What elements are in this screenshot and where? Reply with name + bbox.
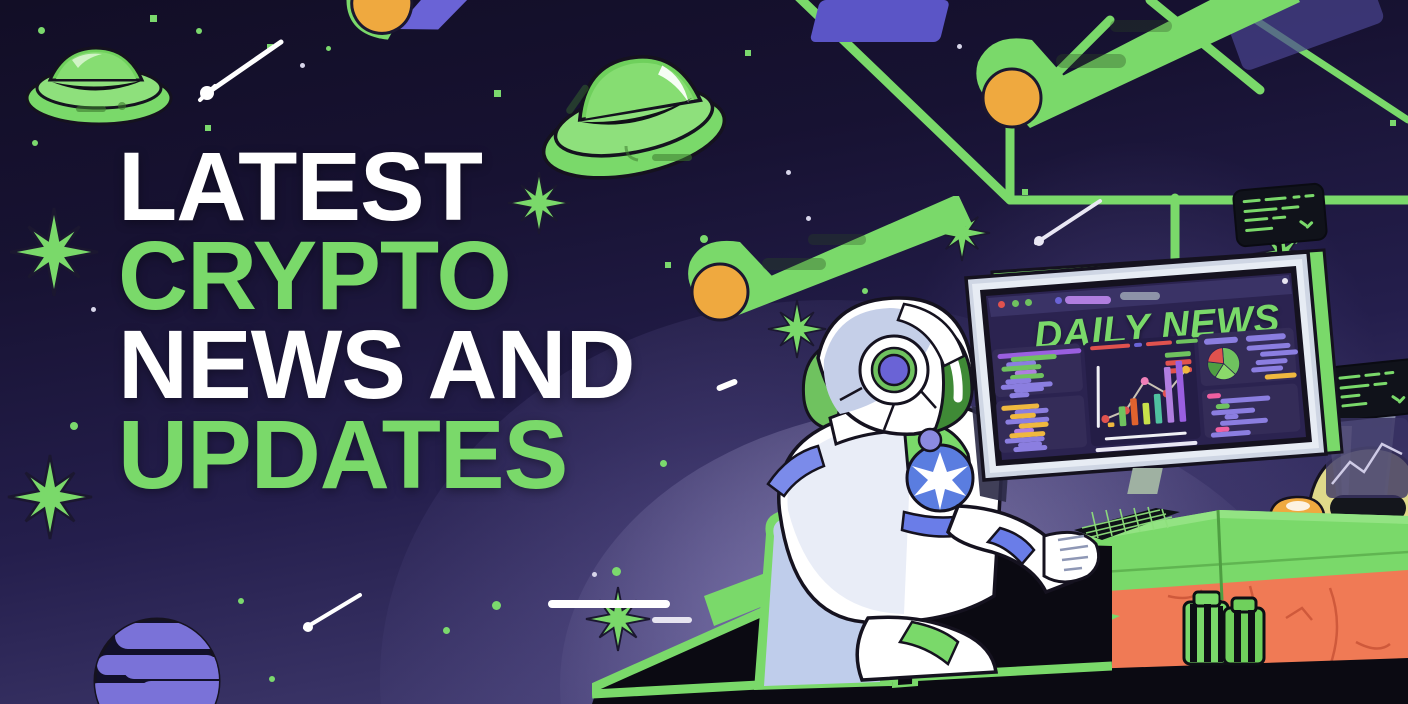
text-line-bar	[1207, 393, 1221, 399]
shooting-star	[195, 38, 295, 108]
screen-content	[986, 327, 1303, 459]
star-dot	[300, 63, 305, 68]
monitor: DAILY NEWS	[952, 246, 1352, 486]
page-headline: LATEST CRYPTO NEWS AND UPDATES	[118, 142, 635, 499]
sparkle-star	[8, 455, 92, 539]
text-line-bar	[1251, 365, 1283, 372]
bar-chart-bar	[1164, 367, 1175, 423]
star-dot	[745, 50, 751, 56]
text-line-bar	[1265, 372, 1297, 379]
banner-illustration: LATEST CRYPTO NEWS AND UPDATES	[0, 0, 1408, 704]
text-line-bar	[1260, 350, 1298, 358]
star-dot	[660, 460, 667, 467]
headline-line-2: CRYPTO	[118, 231, 635, 320]
star-dot	[205, 125, 211, 131]
panel-chart	[1084, 335, 1201, 447]
star-dot	[492, 601, 501, 610]
star-dot	[91, 307, 96, 312]
shooting-star	[1030, 195, 1110, 251]
headline-line-4: UPDATES	[118, 410, 635, 499]
star-dot	[443, 627, 450, 634]
chrome-dot-right	[1282, 278, 1288, 284]
pie-chart	[1204, 345, 1242, 382]
star-dot	[238, 598, 244, 604]
bar-chart-bar	[1108, 422, 1115, 427]
window-dot-green-2[interactable]	[1025, 299, 1032, 306]
star-dot	[786, 170, 791, 175]
panel-right-bottom	[1202, 383, 1301, 438]
window-dot-red[interactable]	[998, 301, 1005, 308]
text-line-bar	[1220, 395, 1270, 404]
chrome-pill-purple[interactable]	[1065, 296, 1111, 304]
text-line-bar	[1255, 358, 1287, 365]
planet-striped	[93, 617, 221, 704]
ufo-small	[24, 30, 174, 145]
panel-right-top	[1197, 327, 1297, 386]
star-dot	[665, 262, 671, 268]
chart-tick-bar	[1176, 338, 1198, 344]
chrome-dot-blue	[1055, 297, 1062, 304]
comet-green-right	[960, 0, 1320, 153]
heading-bar	[1246, 333, 1286, 342]
bar-chart-bar	[1119, 406, 1127, 426]
star-dot	[70, 422, 78, 430]
bar-chart-bar	[1154, 394, 1163, 424]
headline-line-1: LATEST	[118, 142, 635, 231]
text-line-bar	[1013, 445, 1047, 452]
star-dot	[196, 28, 202, 34]
chart-tick-bar	[1134, 343, 1142, 348]
star-dot	[1022, 189, 1028, 195]
star-dot	[150, 15, 157, 22]
canisters	[1180, 588, 1290, 668]
monitor-stand	[1127, 468, 1163, 494]
panel-left-top	[992, 343, 1083, 397]
bar-chart	[1084, 345, 1200, 437]
chart-tick-bar	[1146, 340, 1172, 346]
sparkle-star	[10, 208, 98, 296]
bar-chart-bar	[1175, 360, 1186, 422]
shooting-star	[300, 590, 370, 636]
pie-slice	[1207, 348, 1224, 365]
chart-axis-y	[1097, 366, 1100, 428]
star-dot	[269, 676, 275, 682]
heading-bar	[1204, 337, 1238, 345]
mini-screen-top-right	[1232, 182, 1329, 248]
star-dot	[1390, 120, 1396, 126]
headline-line-3: NEWS AND	[118, 320, 635, 409]
window-dot-green[interactable]	[1012, 300, 1019, 307]
chrome-pill-gray[interactable]	[1120, 292, 1160, 300]
star-dot	[494, 90, 501, 97]
text-line-bar	[1009, 392, 1029, 398]
star-dot	[326, 46, 331, 51]
bar-chart-bar	[1130, 398, 1139, 425]
bar-chart-bar	[1142, 403, 1150, 425]
panel-left-bottom	[996, 395, 1088, 453]
